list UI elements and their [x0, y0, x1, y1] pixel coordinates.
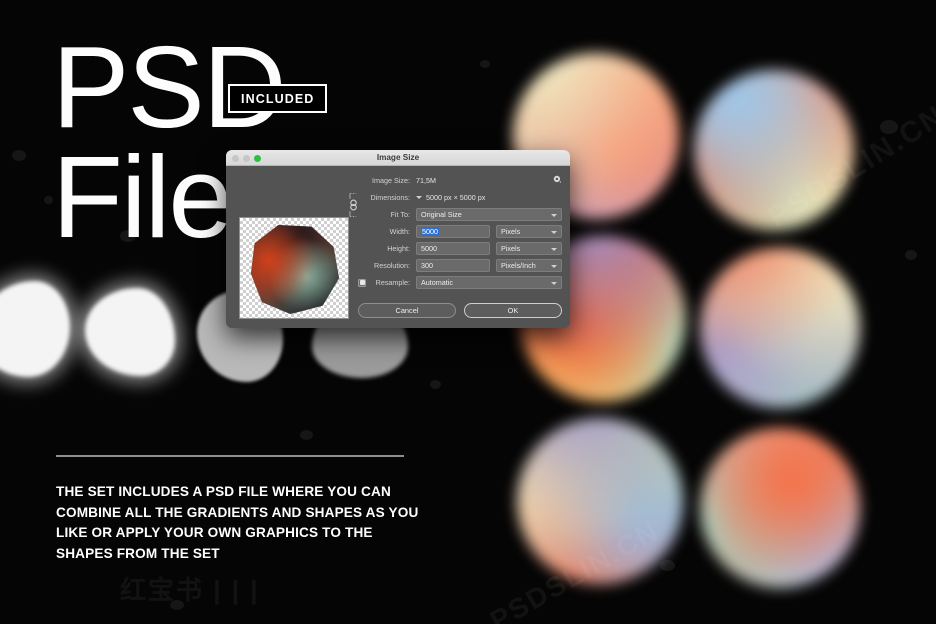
chain-link-icon[interactable] — [349, 190, 358, 220]
resolution-unit-select[interactable]: Pixels/Inch — [496, 259, 562, 272]
poster-canvas: PSD File INCLUDED The set includes a PSD… — [0, 0, 936, 624]
dialog-body: Image Size: 71,5M Dimensions: 5000 px × … — [226, 166, 570, 328]
fit-to-value: Original Size — [421, 210, 462, 219]
window-controls[interactable] — [232, 155, 261, 162]
image-preview[interactable] — [239, 217, 349, 319]
chevron-down-icon — [551, 265, 557, 268]
image-size-form: Image Size: 71,5M Dimensions: 5000 px × … — [358, 174, 562, 293]
image-size-dialog[interactable]: Image Size Image Size: — [226, 150, 570, 328]
height-input[interactable]: 5000 — [416, 242, 490, 255]
resample-label: Resample: — [370, 278, 416, 287]
resample-checkbox[interactable] — [358, 279, 366, 287]
fit-to-row: Fit To: Original Size — [358, 208, 562, 221]
orb-gradient-layer — [700, 248, 860, 408]
white-blob-shape — [85, 288, 175, 376]
resolution-value: 300 — [421, 261, 433, 270]
checkmark-icon — [360, 280, 365, 285]
height-unit-value: Pixels — [501, 244, 520, 253]
width-unit-select[interactable]: Pixels — [496, 225, 562, 238]
orb-blue-coral-mint — [694, 70, 854, 230]
image-size-row: Image Size: 71,5M — [358, 174, 562, 187]
orb-blue-coral-cream — [517, 418, 683, 584]
watermark: 红宝书 | | | — [120, 570, 260, 607]
polygon-gradient-preview-icon — [249, 223, 341, 315]
resolution-unit-value: Pixels/Inch — [501, 261, 536, 270]
background-speck — [480, 60, 490, 68]
white-blob-shape — [0, 281, 70, 377]
image-size-value: 71,5M — [416, 176, 436, 185]
orb-gradient-layer — [517, 418, 683, 584]
width-input[interactable]: 5000 — [416, 225, 490, 238]
height-unit-select[interactable]: Pixels — [496, 242, 562, 255]
minimize-button-icon[interactable] — [243, 155, 250, 162]
resample-select[interactable]: Automatic — [416, 276, 562, 289]
gear-icon[interactable] — [553, 175, 562, 184]
height-value: 5000 — [421, 244, 437, 253]
background-speck — [905, 250, 917, 260]
divider — [56, 455, 404, 457]
fit-to-select[interactable]: Original Size — [416, 208, 562, 221]
chevron-down-icon[interactable] — [416, 196, 422, 199]
background-speck — [430, 380, 441, 389]
background-speck — [300, 430, 313, 440]
dimensions-value-group[interactable]: 5000 px × 5000 px — [416, 193, 485, 202]
orb-gradient-layer — [700, 428, 860, 588]
orb-coral-mint-lavender — [700, 428, 860, 588]
width-unit-value: Pixels — [501, 227, 520, 236]
zoom-button-icon[interactable] — [254, 155, 261, 162]
chevron-down-icon — [551, 282, 557, 285]
height-label: Height: — [358, 244, 416, 253]
width-label: Width: — [358, 227, 416, 236]
chevron-down-icon — [551, 248, 557, 251]
dialog-title: Image Size — [377, 153, 419, 162]
chevron-down-icon — [551, 214, 557, 217]
included-badge: INCLUDED — [228, 84, 327, 113]
background-speck — [12, 150, 26, 161]
dialog-buttons: Cancel OK — [358, 303, 562, 318]
chevron-down-icon — [551, 231, 557, 234]
resample-value: Automatic — [421, 278, 453, 287]
resolution-row: Resolution: 300 Pixels/Inch — [358, 259, 562, 272]
dimensions-row: Dimensions: 5000 px × 5000 px — [358, 191, 562, 204]
orb-coral-cream-lavender-mint — [700, 248, 860, 408]
background-speck — [170, 600, 184, 610]
cancel-button[interactable]: Cancel — [358, 303, 456, 318]
width-row: Width: 5000 Pixels — [358, 225, 562, 238]
fit-to-label: Fit To: — [358, 210, 416, 219]
background-speck — [880, 120, 898, 134]
resample-row: Resample: Automatic — [358, 276, 562, 289]
resolution-label: Resolution: — [358, 261, 416, 270]
image-size-label: Image Size: — [358, 176, 416, 185]
ok-button[interactable]: OK — [464, 303, 562, 318]
dimensions-value: 5000 px × 5000 px — [426, 193, 485, 202]
width-value: 5000 — [421, 227, 439, 236]
resolution-input[interactable]: 300 — [416, 259, 490, 272]
close-button-icon[interactable] — [232, 155, 239, 162]
body-copy: The set includes a PSD file where you ca… — [56, 482, 428, 565]
orb-gradient-layer — [694, 70, 854, 230]
height-row: Height: 5000 Pixels — [358, 242, 562, 255]
dimensions-label: Dimensions: — [358, 193, 416, 202]
dialog-titlebar[interactable]: Image Size — [226, 150, 570, 166]
